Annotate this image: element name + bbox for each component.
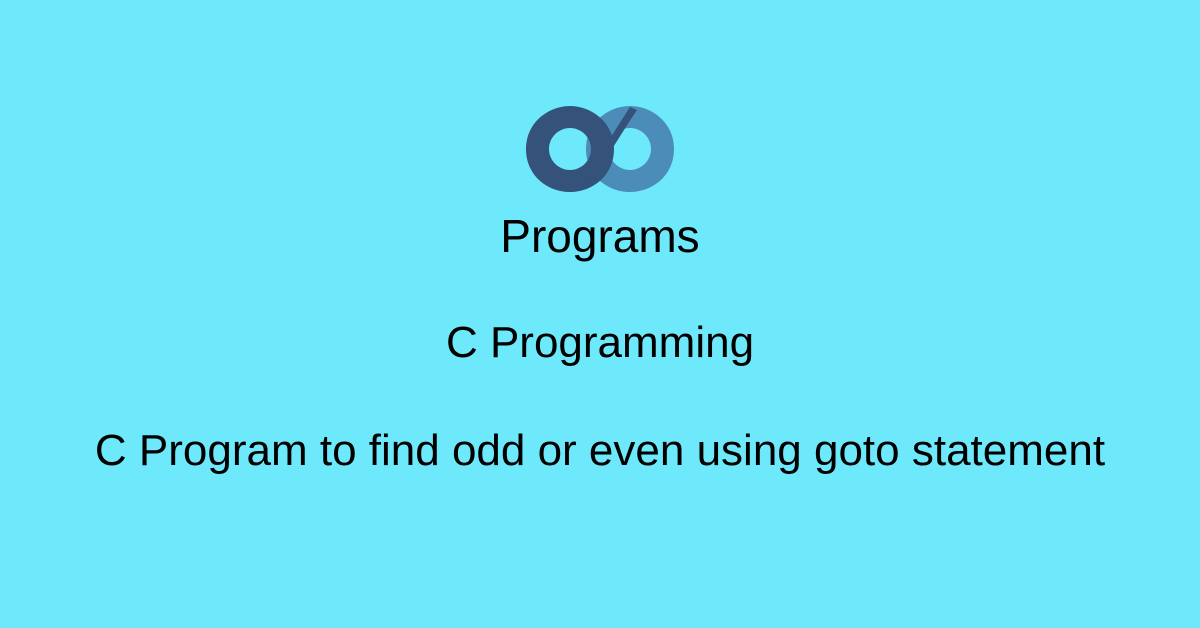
logo-left-loop [526,106,614,192]
social-share-card: Programs C Programming C Program to find… [0,0,1200,628]
brand-name: Programs [0,208,1200,264]
page-title: C Program to find odd or even using goto… [0,420,1200,482]
infinity-double-loop-logo [524,104,676,194]
category-label: C Programming [0,315,1200,371]
